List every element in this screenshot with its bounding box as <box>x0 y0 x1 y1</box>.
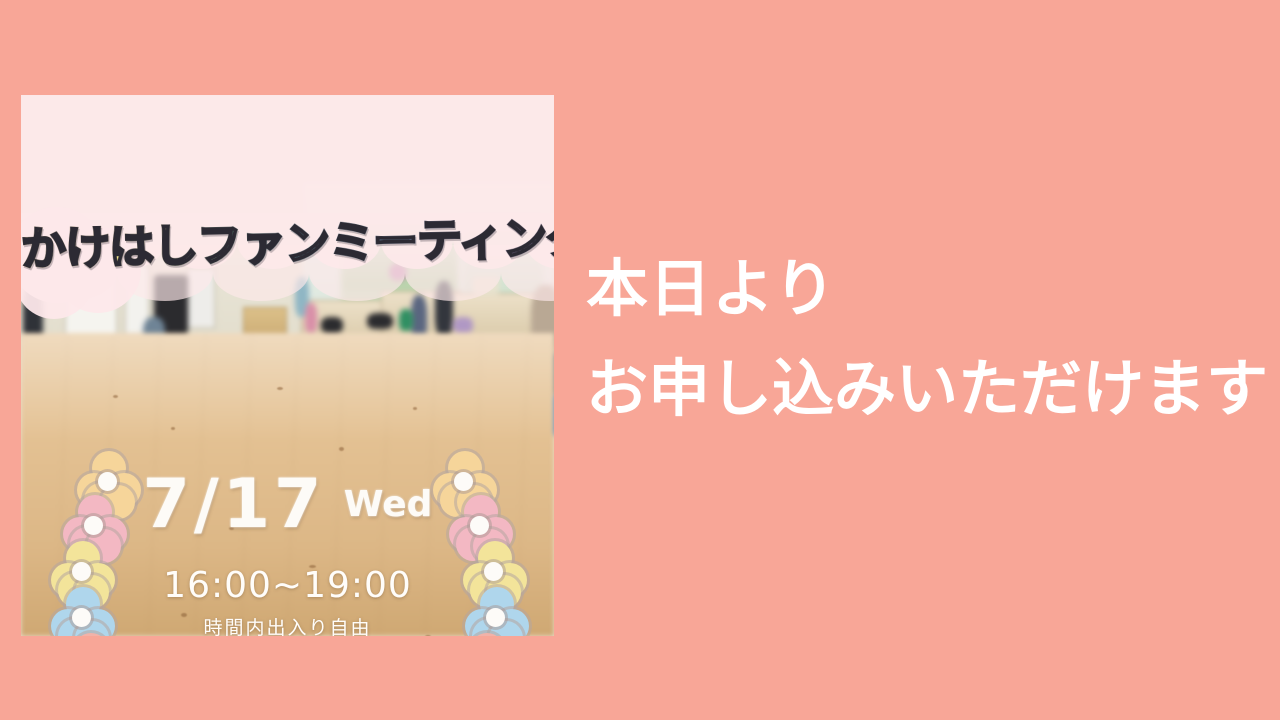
event-date: 7/17 <box>143 465 326 544</box>
flyer-title: かけはしファンミーティング <box>21 201 554 277</box>
event-flyer-image[interactable]: かけはしファンミーティング 7/17 Wed 16:00~19:00 時間内出入… <box>21 95 554 636</box>
flower-right-4 <box>465 587 529 636</box>
event-day-of-week: Wed <box>344 484 433 525</box>
announcement-block: 本日より お申し込みいただけます <box>586 258 1266 420</box>
slide-canvas: かけはしファンミーティング 7/17 Wed 16:00~19:00 時間内出入… <box>0 0 1280 720</box>
announcement-line-2: お申し込みいただけます <box>586 358 1266 420</box>
flower-left-4 <box>51 587 115 636</box>
flower-left-5 <box>59 633 123 636</box>
flower-right-5 <box>455 633 519 636</box>
announcement-line-1: 本日より <box>586 258 1266 320</box>
